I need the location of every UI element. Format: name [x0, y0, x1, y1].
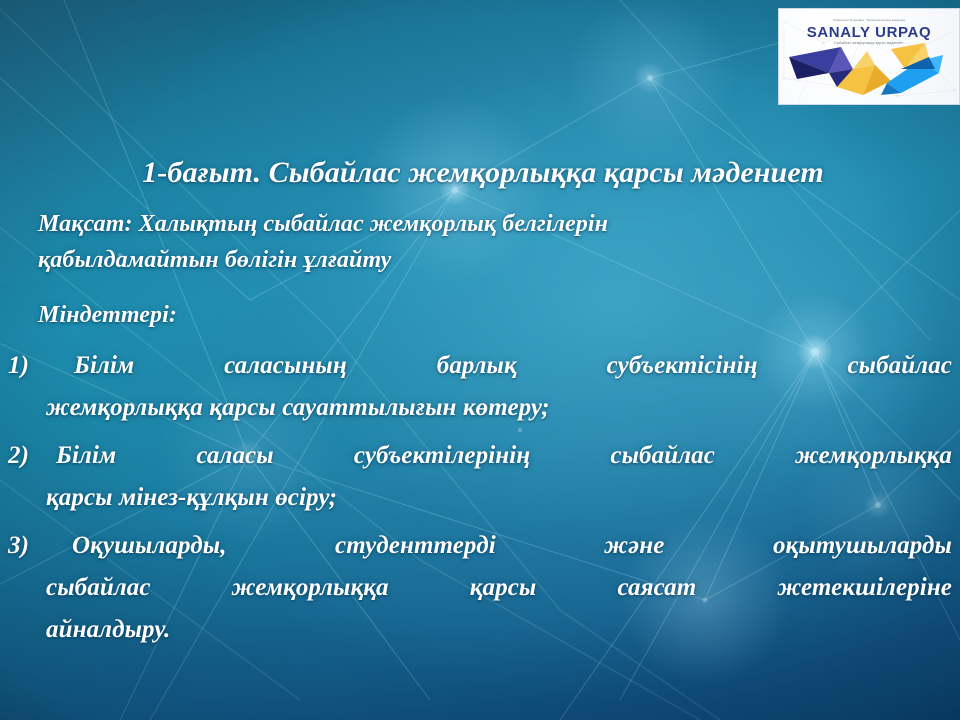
- task-1-line-2: жемқорлыққа қарсы сауаттылығын көтеру;: [46, 387, 952, 429]
- goal-paragraph: Мақсат: Халықтың сыбайлас жемқорлық белг…: [38, 206, 932, 278]
- task-2-number: 2): [8, 435, 46, 477]
- task-2-body: Білім саласы субъектілерінің сыбайлас же…: [46, 435, 952, 519]
- slide-canvas: মемлекеттік қызмет. Технологиялық жаңғыр…: [0, 0, 960, 720]
- task-item-2: 2) Білім саласы субъектілерінің сыбайлас…: [8, 435, 952, 519]
- goal-line-2: қабылдамайтын бөлігін ұлғайту: [38, 242, 932, 278]
- task-2-line-1: Білім саласы субъектілерінің сыбайлас же…: [46, 435, 952, 477]
- goal-line-1: Мақсат: Халықтың сыбайлас жемқорлық белг…: [38, 206, 932, 242]
- task-1-number: 1): [8, 345, 46, 387]
- task-3-line-3: айналдыру.: [46, 609, 952, 651]
- task-2-line-2: қарсы мінез-құлқын өсіру;: [46, 477, 952, 519]
- task-3-line-1: Оқушыларды, студенттерді және оқытушылар…: [46, 525, 952, 567]
- task-3-number: 3): [8, 525, 46, 567]
- slide-title: 1-бағыт. Сыбайлас жемқорлыққа қарсы мәде…: [0, 156, 960, 190]
- task-1-line-1: Білім саласының барлық субъектісінің сыб…: [46, 345, 952, 387]
- task-item-1: 1) Білім саласының барлық субъектісінің …: [8, 345, 952, 429]
- task-3-body: Оқушыларды, студенттерді және оқытушылар…: [46, 525, 952, 651]
- slide-content: 1-бағыт. Сыбайлас жемқорлыққа қарсы мәде…: [0, 0, 960, 720]
- task-1-body: Білім саласының барлық субъектісінің сыб…: [46, 345, 952, 429]
- task-item-3: 3) Оқушыларды, студенттерді және оқытушы…: [8, 525, 952, 651]
- task-3-line-2: сыбайлас жемқорлыққа қарсы саясат жетекш…: [46, 567, 952, 609]
- tasks-label: Міндеттері:: [38, 300, 177, 330]
